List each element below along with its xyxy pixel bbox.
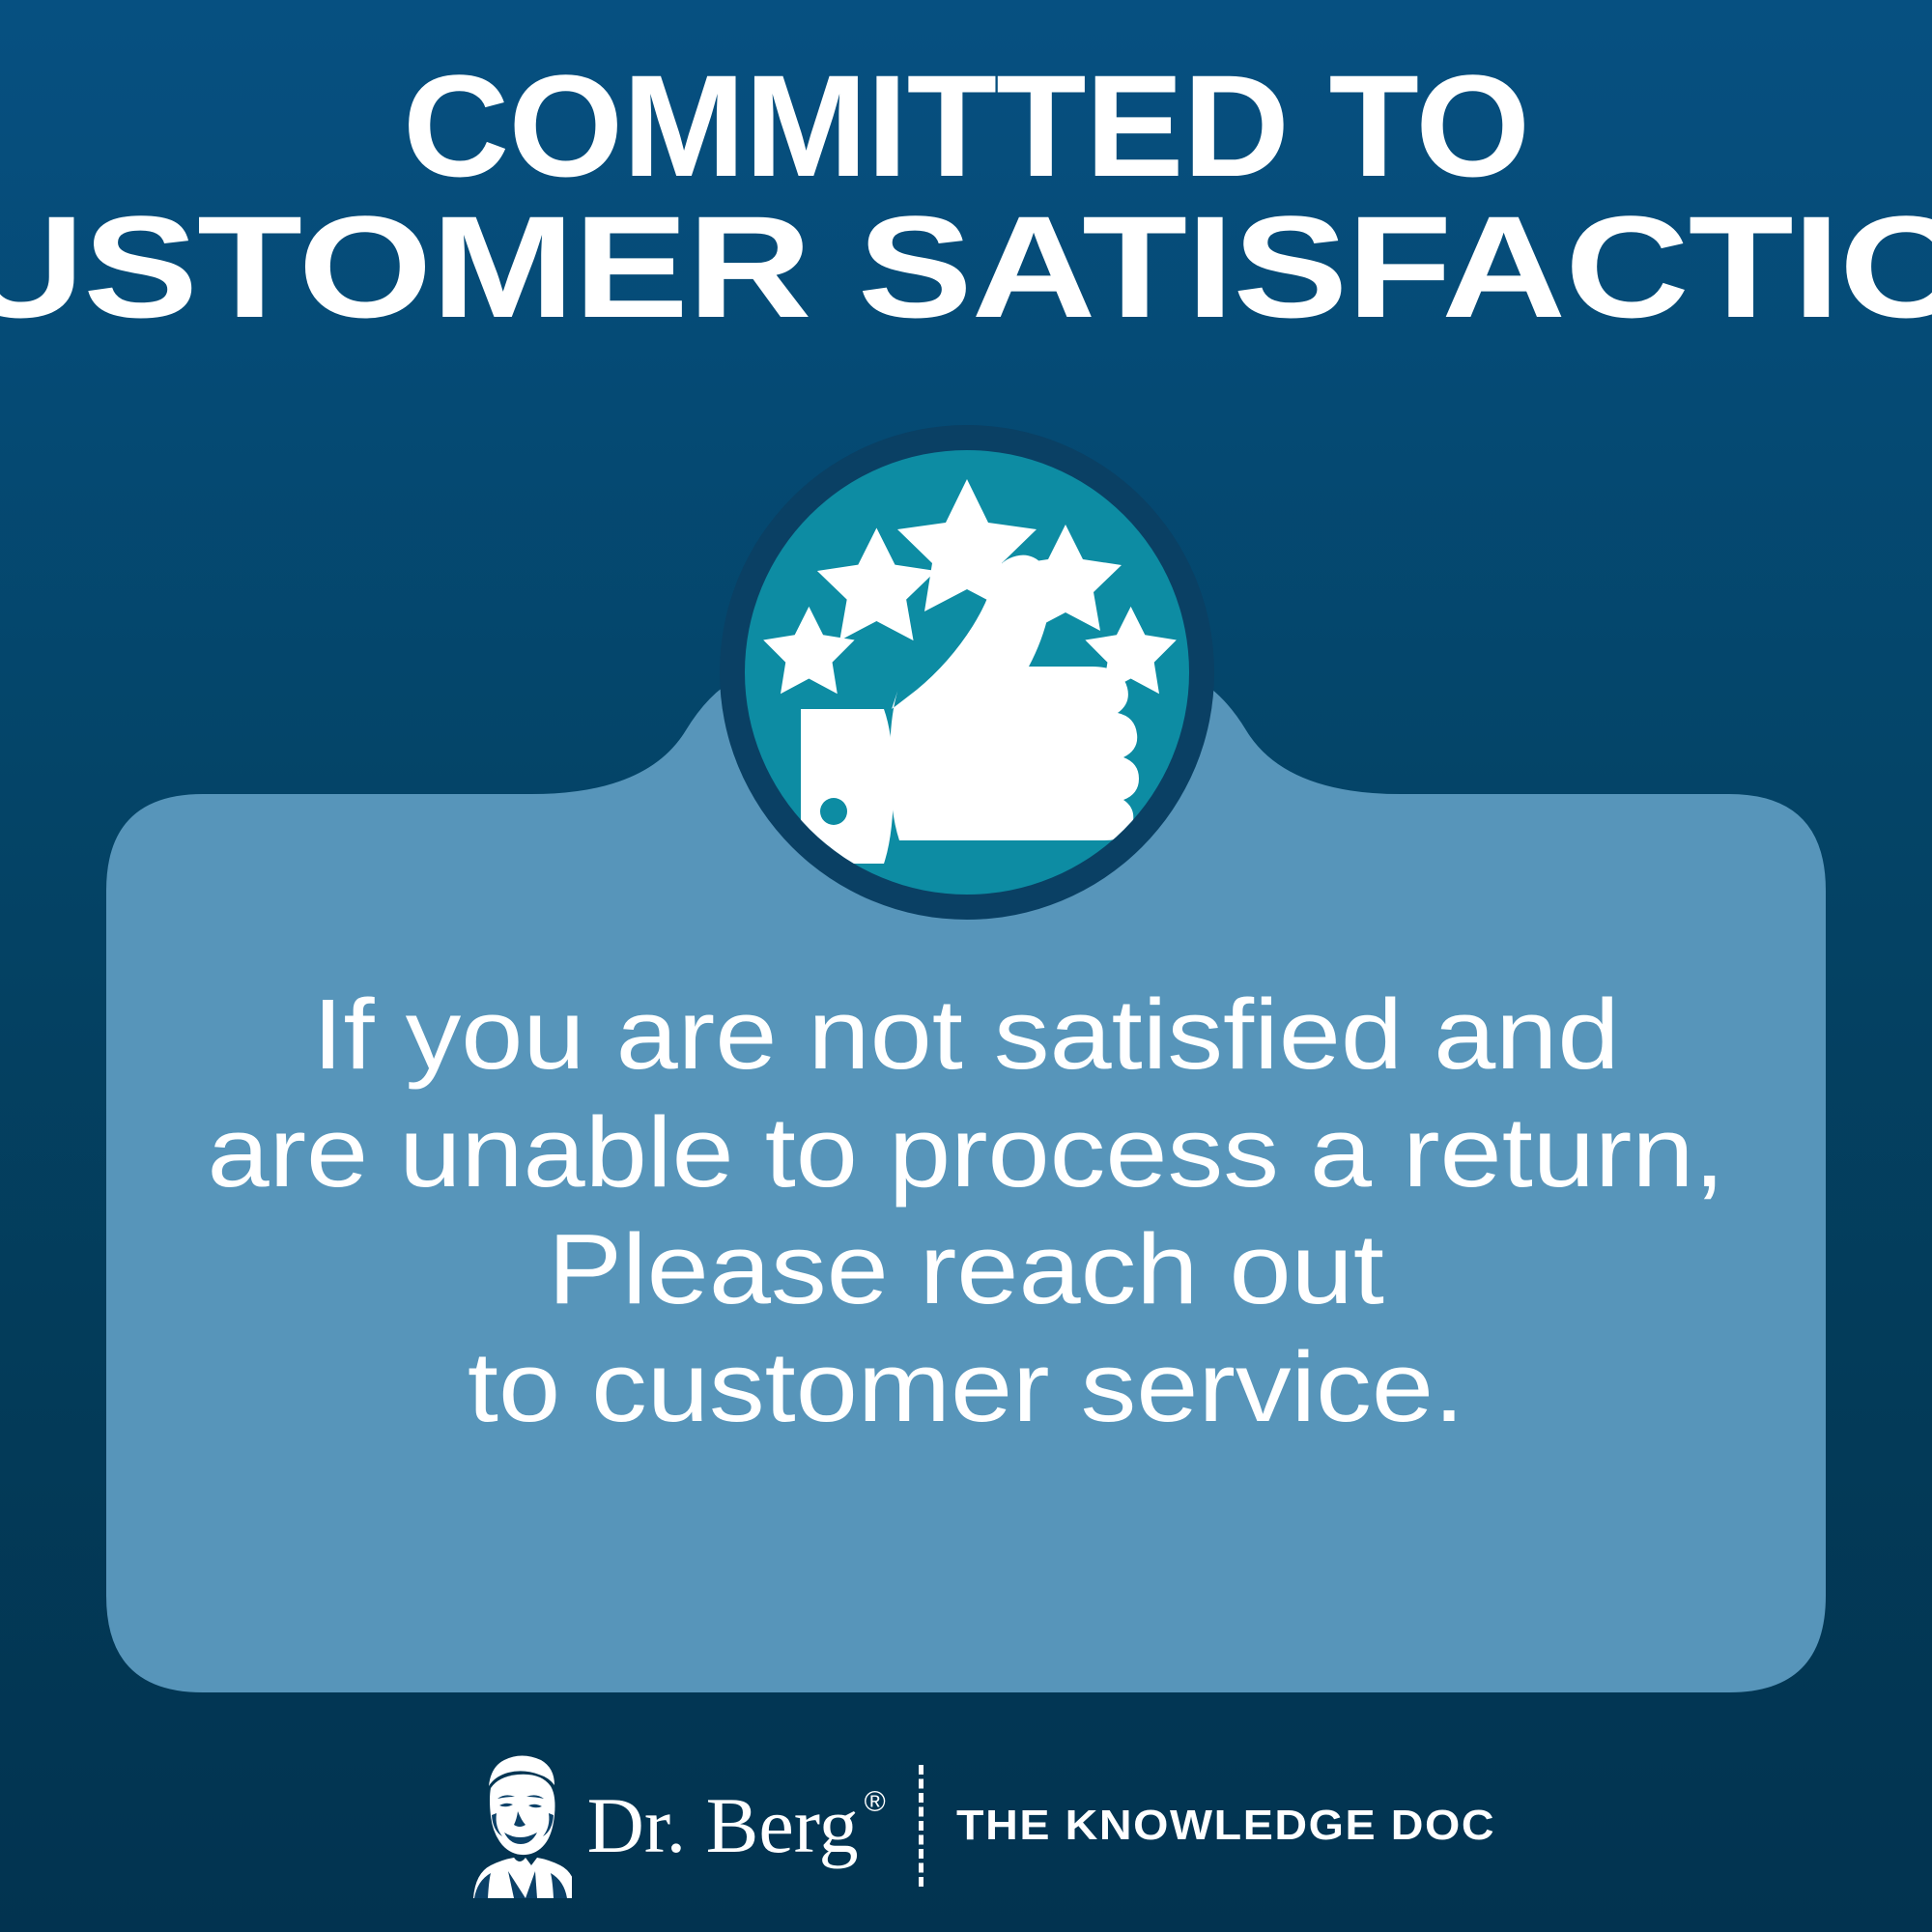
poster-canvas: COMMITTED TO CUSTOMER SATISFACTION bbox=[0, 0, 1932, 1932]
page-title: COMMITTED TO CUSTOMER SATISFACTION bbox=[0, 56, 1932, 337]
brand-name: Dr. Berg bbox=[587, 1781, 859, 1869]
page-title-line-2: CUSTOMER SATISFACTION bbox=[0, 197, 1932, 338]
thumbs-up-five-stars-icon bbox=[745, 450, 1189, 895]
dr-berg-portrait-icon bbox=[468, 1753, 572, 1898]
message-line-1: If you are not satisfied and bbox=[3, 976, 1929, 1094]
brand-tagline: THE KNOWLEDGE DOC bbox=[956, 1802, 1495, 1850]
satisfaction-badge bbox=[720, 425, 1214, 920]
message-line-4: to customer service. bbox=[3, 1328, 1929, 1446]
registered-trademark-icon: ® bbox=[865, 1786, 886, 1818]
brand-footer: Dr. Berg® THE KNOWLEDGE DOC bbox=[0, 1748, 1932, 1903]
message-line-3: Please reach out bbox=[3, 1210, 1929, 1328]
message-body: If you are not satisfied and are unable … bbox=[106, 976, 1826, 1445]
page-title-line-1: COMMITTED TO bbox=[0, 56, 1932, 197]
footer-divider bbox=[919, 1765, 923, 1887]
message-line-2: are unable to process a return, bbox=[3, 1094, 1929, 1211]
brand-wordmark: Dr. Berg® bbox=[587, 1786, 880, 1865]
